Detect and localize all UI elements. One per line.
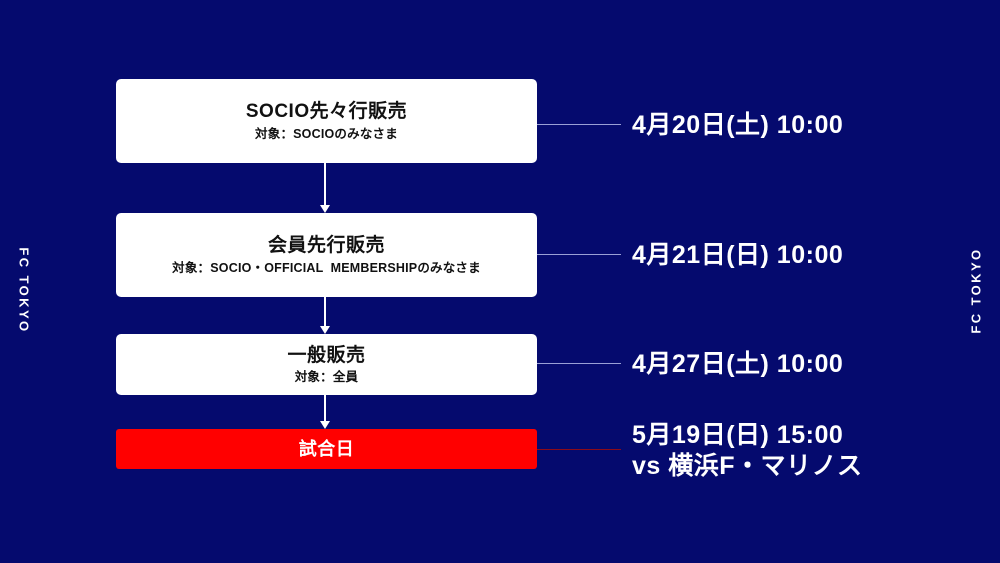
brand-label-right: FC TOKYO [970,236,983,346]
step-subtitle: 対象：SOCIO・OFFICIAL MEMBERSHIPのみなさま [172,260,481,276]
ticket-sale-schedule-diagram: FC TOKYO FC TOKYO SOCIO先々行販売 対象：SOCIOのみな… [0,0,1000,563]
step-date-4: 5月19日(日) 15:00 vs 横浜F・マリノス [632,420,863,481]
step-box-match-day: 試合日 [116,429,537,469]
step-title: SOCIO先々行販売 [246,100,407,124]
step-title: 一般販売 [287,344,365,368]
connector-line-1 [537,124,621,125]
step-box-general-sale: 一般販売 対象：全員 [116,334,537,395]
arrow-down-icon-2 [324,297,326,327]
step-date-2: 4月21日(日) 10:00 [632,240,843,271]
connector-line-4 [537,449,621,450]
step-box-socio-advance-sale: SOCIO先々行販売 対象：SOCIOのみなさま [116,79,537,163]
match-opponent: vs 横浜F・マリノス [632,451,863,482]
connector-line-2 [537,254,621,255]
match-datetime: 5月19日(日) 15:00 [632,421,843,449]
brand-label-left: FC TOKYO [18,236,31,346]
step-date-1: 4月20日(土) 10:00 [632,110,843,141]
step-subtitle: 対象：SOCIOのみなさま [255,126,398,142]
step-title: 会員先行販売 [268,234,385,258]
step-box-member-advance-sale: 会員先行販売 対象：SOCIO・OFFICIAL MEMBERSHIPのみなさま [116,213,537,297]
connector-line-3 [537,363,621,364]
step-title: 試合日 [299,438,355,461]
arrow-down-icon-3 [324,395,326,422]
step-date-3: 4月27日(土) 10:00 [632,349,843,380]
arrow-down-icon-1 [324,163,326,206]
step-subtitle: 対象：全員 [295,369,359,385]
